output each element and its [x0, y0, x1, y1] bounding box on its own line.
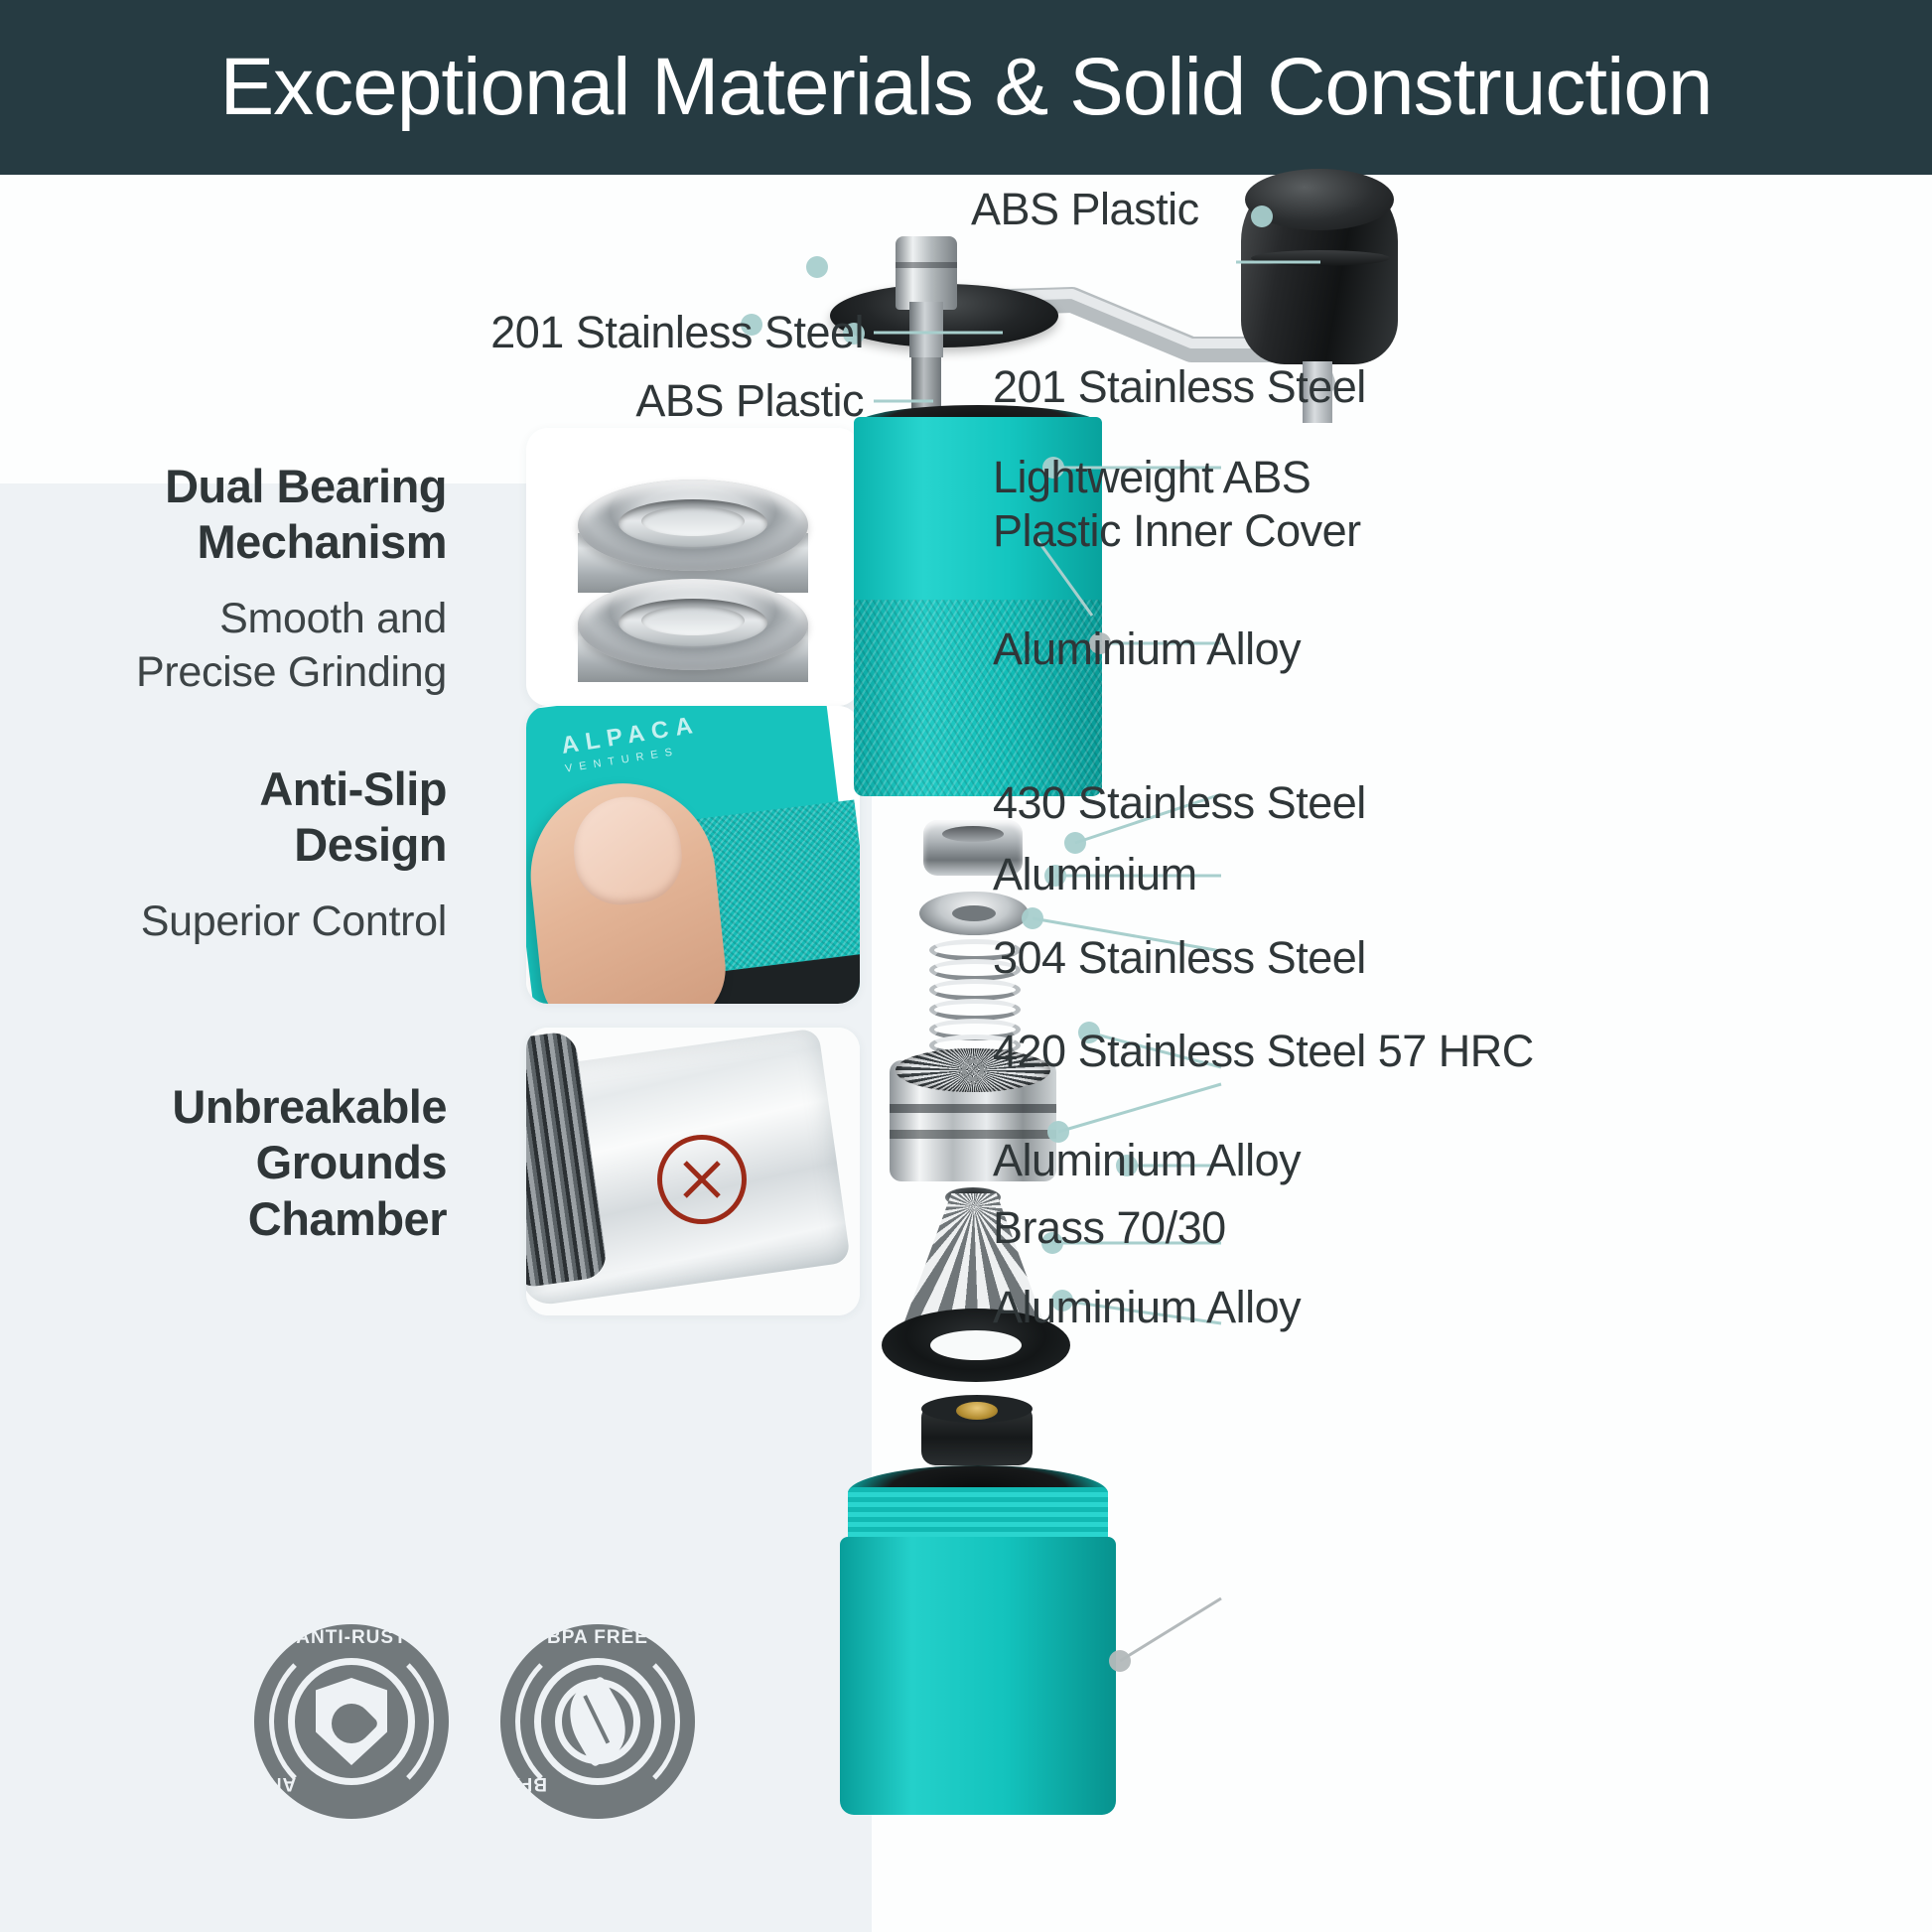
callout-ring: Aluminium Alloy [993, 1132, 1301, 1189]
badge-label-bottom: BPA FREE [446, 1772, 547, 1794]
leader-dot-spring [1022, 907, 1043, 929]
glass-jar-photo [526, 1028, 860, 1315]
leader-dot-crank-post [806, 256, 828, 278]
prohibited-x-icon [657, 1135, 747, 1224]
leader-dot-knob [1251, 206, 1273, 227]
badge-label-top: ANTI-RUST [296, 1627, 406, 1649]
trust-badges: ANTI-RUST ANTI-RUST BPA FREE BPA FREE [254, 1624, 711, 1853]
page-header: Exceptional Materials & Solid Constructi… [0, 0, 1932, 175]
callout-body: Aluminium Alloy [993, 621, 1301, 678]
callout-cup: Aluminium Alloy [993, 1279, 1301, 1336]
drive-shaft-upper [909, 302, 943, 357]
catch-cup-threads [848, 1487, 1108, 1543]
callout-knob: ABS Plastic [971, 181, 1199, 238]
callout-brass: Brass 70/30 [993, 1199, 1226, 1257]
feature-card-anti-slip: ALPACA VENTURES [526, 706, 860, 1004]
leader-dot-cup-body [1109, 1650, 1131, 1672]
part-brass-adjuster [921, 1404, 1033, 1465]
feature-card-dual-bearing [526, 428, 860, 706]
feature-title: Anti-Slip Design [40, 761, 447, 874]
bearing-upper [578, 480, 808, 571]
catch-cup-body [840, 1537, 1116, 1815]
crank-knob-ring [1251, 250, 1390, 266]
callout-crank-post: 201 Stainless Steel [328, 304, 864, 361]
crank-post [896, 236, 957, 310]
page-title: Exceptional Materials & Solid Constructi… [219, 41, 1712, 134]
callout-washer: Aluminium [993, 846, 1197, 903]
feature-title: Dual Bearing Mechanism [40, 459, 447, 571]
feature-text-grounds-chamber: Unbreakable Grounds Chamber [40, 1079, 447, 1247]
anti-slip-thumb-photo: ALPACA VENTURES [526, 706, 860, 1004]
callout-bearing: 430 Stainless Steel [993, 774, 1366, 832]
callout-crank-hub: ABS Plastic [328, 372, 864, 430]
callout-shaft: 201 Stainless Steel [993, 358, 1366, 416]
feature-subtitle: Smooth and Precise Grinding [40, 593, 447, 700]
badge-label-ring: ANTI-RUST ANTI-RUST [254, 1624, 449, 1819]
feature-subtitle: Superior Control [40, 896, 447, 949]
badge-label-bottom: ANTI-RUST [186, 1772, 296, 1794]
feature-text-dual-bearing: Dual Bearing Mechanism Smooth and Precis… [40, 459, 447, 699]
callout-spring: 304 Stainless Steel [993, 929, 1366, 987]
badge-bpa-free: BPA FREE BPA FREE [500, 1624, 695, 1819]
feature-title: Unbreakable Grounds Chamber [40, 1079, 447, 1247]
thumbnail [569, 791, 687, 909]
feature-text-anti-slip: Anti-Slip Design Superior Control [40, 761, 447, 949]
feature-card-grounds-chamber [526, 1028, 860, 1315]
callout-inner-cover-line1: Lightweight ABS [993, 449, 1311, 506]
badge-anti-rust: ANTI-RUST ANTI-RUST [254, 1624, 449, 1819]
infographic-canvas: Exceptional Materials & Solid Constructi… [0, 0, 1932, 1932]
bearing-lower [578, 579, 808, 670]
callout-burr: 420 Stainless Steel 57 HRC [993, 1023, 1534, 1080]
callout-inner-cover-line2: Plastic Inner Cover [993, 502, 1361, 560]
badge-label-ring: BPA FREE BPA FREE [500, 1624, 695, 1819]
dual-bearing-photo [526, 428, 860, 706]
badge-label-top: BPA FREE [547, 1627, 648, 1649]
